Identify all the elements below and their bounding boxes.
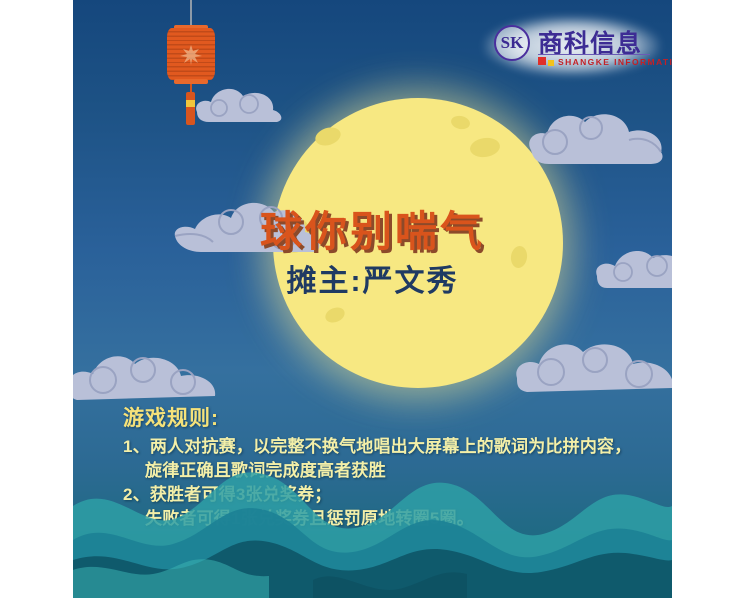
logo-divider	[538, 54, 650, 55]
moon-crater	[323, 305, 347, 325]
cloud-upper-right	[525, 100, 672, 178]
moon-crater	[469, 136, 501, 159]
logo-english-name: SHANGKE INFORMATION	[558, 57, 672, 67]
rules-heading: 游戏规则:	[123, 402, 663, 432]
brand-logo: SK 商科信息 SHANGKE INFORMATION	[492, 22, 652, 70]
lantern-emblem-icon	[179, 44, 203, 66]
lantern-tassel-band	[186, 100, 195, 107]
page-subtitle: 摊主:严文秀	[73, 256, 672, 300]
lantern-tassel	[186, 92, 195, 125]
moon-crater	[450, 114, 471, 131]
logo-square-red-icon	[538, 57, 546, 65]
page-title: 球你别喘气	[73, 198, 672, 259]
cloud-lower-right	[513, 318, 672, 410]
poster-canvas: 球你别喘气 摊主:严文秀 SK 商科信息 SHANGKE INFORMATION…	[73, 0, 672, 598]
lantern	[161, 0, 221, 140]
wave-decoration	[73, 448, 672, 598]
logo-monogram: SK	[494, 25, 530, 61]
logo-square-yellow-icon	[548, 60, 554, 66]
